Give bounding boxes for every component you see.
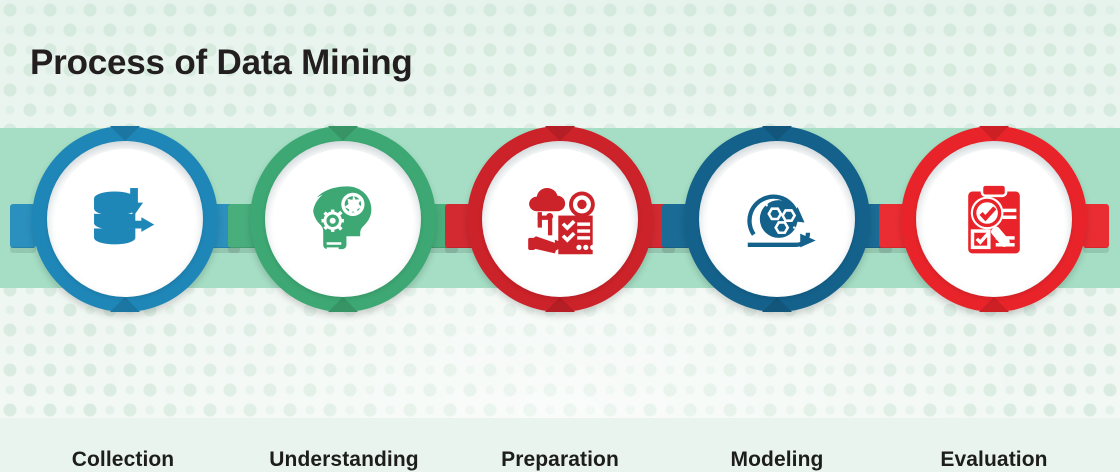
- notch-bottom-icon: [110, 297, 140, 312]
- cycle-hexagons-icon: [734, 176, 820, 262]
- step-modeling[interactable]: Modeling: [684, 126, 870, 312]
- notch-bottom-icon: [762, 297, 792, 312]
- checklist-cloud-gear-icon: [517, 176, 603, 262]
- notch-bottom-icon: [328, 297, 358, 312]
- head-gears-icon: [300, 176, 386, 262]
- step-label: Understanding: [229, 448, 459, 472]
- notch-top-icon: [762, 126, 792, 141]
- notch-bottom-icon: [979, 297, 1009, 312]
- step-label: Evaluation: [879, 448, 1109, 472]
- database-import-icon: [82, 176, 168, 262]
- step-evaluation[interactable]: Evaluation: [901, 126, 1087, 312]
- notch-top-icon: [110, 126, 140, 141]
- step-label: Preparation: [445, 448, 675, 472]
- notch-top-icon: [545, 126, 575, 141]
- step-preparation[interactable]: Preparation: [467, 126, 653, 312]
- step-label: Collection: [8, 448, 238, 472]
- step-understanding[interactable]: Understanding: [250, 126, 436, 312]
- notch-top-icon: [328, 126, 358, 141]
- step-label: Modeling: [662, 448, 892, 472]
- notch-top-icon: [979, 126, 1009, 141]
- clipboard-search-icon: [951, 176, 1037, 262]
- step-collection[interactable]: Collection: [32, 126, 218, 312]
- notch-bottom-icon: [545, 297, 575, 312]
- connector-right: [1083, 204, 1109, 248]
- process-steps: Collection: [0, 0, 1120, 418]
